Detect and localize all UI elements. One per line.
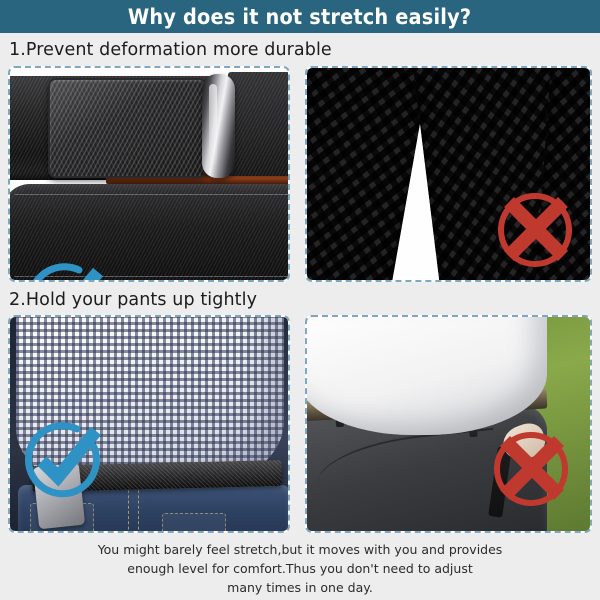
page-title: Why does it not stretch easily?	[128, 5, 471, 29]
jeans-pocket-right	[162, 513, 226, 531]
phone-in-pocket	[33, 463, 85, 529]
carbon-fiber-belt-photo	[10, 68, 288, 280]
belt-tail-strap	[228, 72, 288, 176]
footer-line-3: many times in one day.	[0, 578, 600, 597]
panel-top-left	[8, 66, 290, 282]
belt-strap-lower	[10, 184, 288, 280]
footer-line-1: You might barely feel stretch,but it mov…	[0, 540, 600, 559]
sagging-pants-photo	[307, 317, 590, 531]
belt-buckle-chrome-bar	[202, 74, 235, 178]
header-banner: Why does it not stretch easily?	[0, 0, 600, 33]
panel-bottom-right	[305, 315, 592, 533]
section-heading-2: 2.Hold your pants up tightly	[9, 290, 257, 310]
belt-stitching-top	[14, 194, 288, 195]
braided-elastic-belt-photo	[307, 68, 590, 280]
footer-line-2: enough level for comfort.Thus you don't …	[0, 559, 600, 578]
section-heading-1: 1.Prevent deformation more durable	[9, 40, 332, 60]
belt-stitching-bottom	[14, 276, 288, 277]
footer-caption: You might barely feel stretch,but it mov…	[0, 540, 600, 597]
white-shirt	[307, 317, 547, 435]
panel-bottom-left	[8, 315, 290, 533]
jeans-seam-right	[138, 485, 139, 531]
man-wearing-belt-photo	[10, 317, 288, 531]
panel-top-right	[305, 66, 592, 282]
belt-buckle	[48, 78, 207, 178]
jeans-seam-left	[128, 485, 129, 531]
